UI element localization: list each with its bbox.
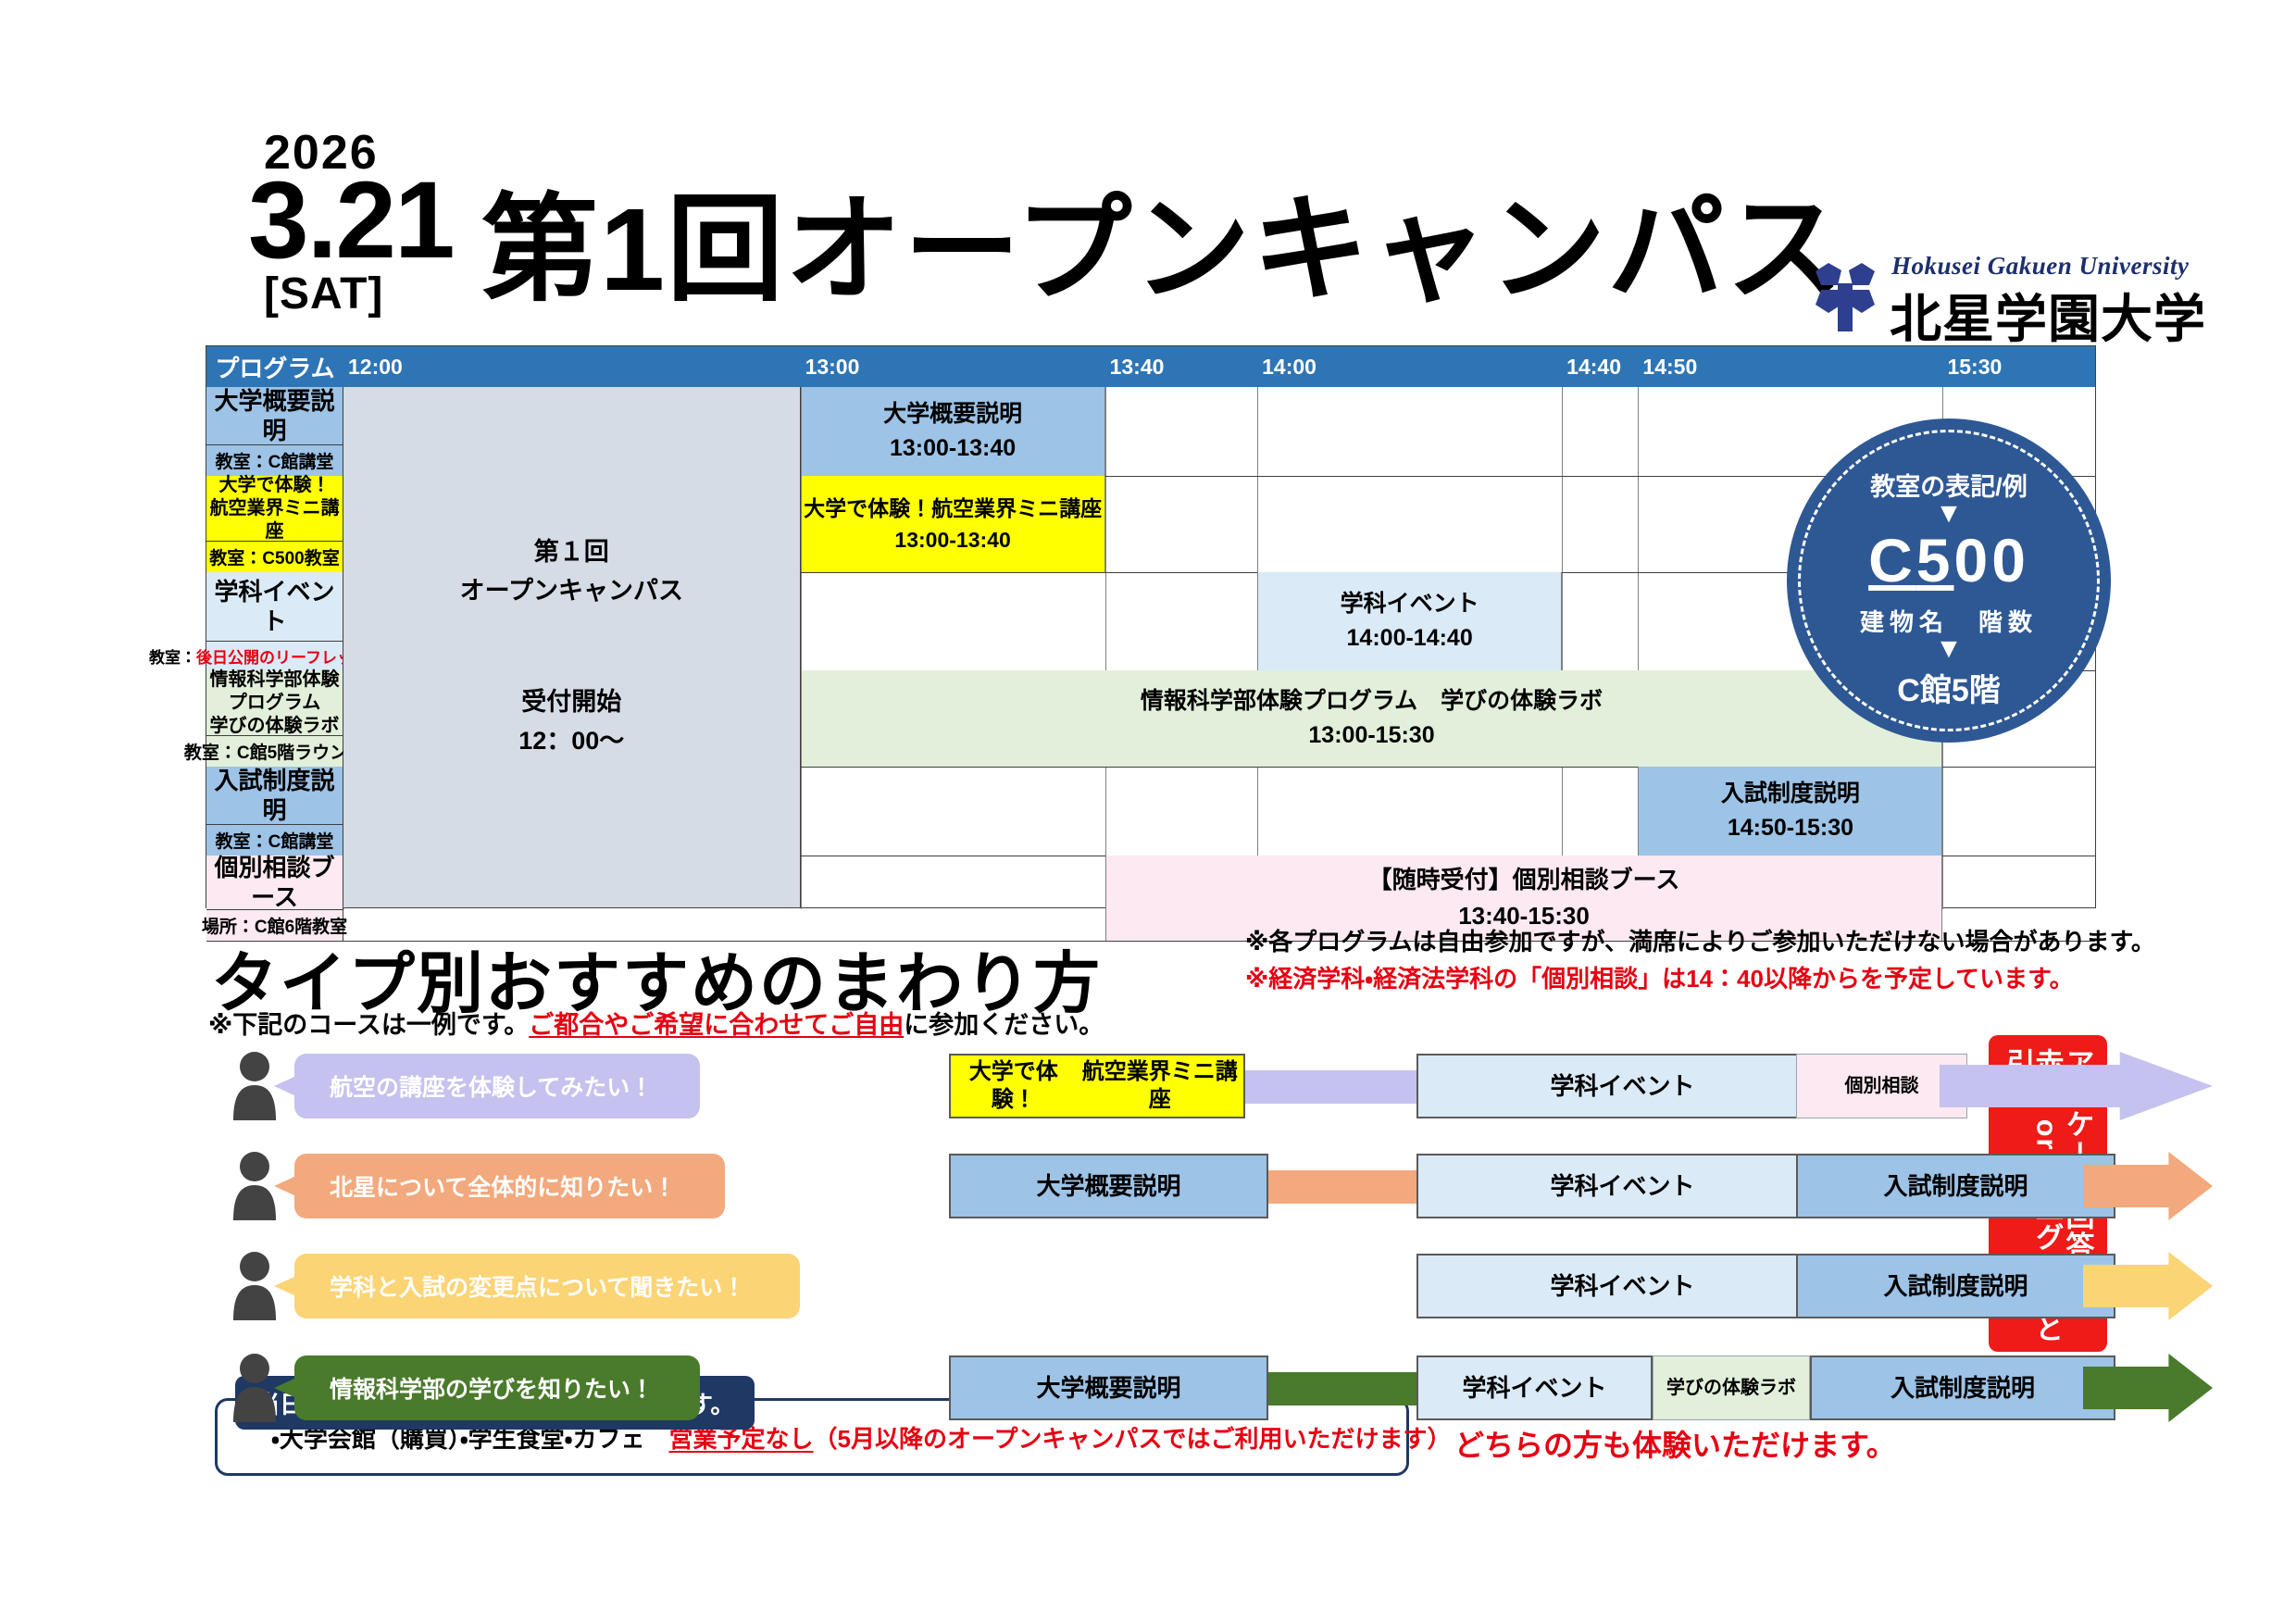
grid-line bbox=[1105, 387, 1106, 909]
program-label-text: 大学で体験！航空業界ミニ講座 bbox=[206, 474, 343, 543]
program-label-row: 大学で体験！航空業界ミニ講座 bbox=[206, 476, 343, 541]
reception-line4: 12：00〜 bbox=[518, 722, 624, 761]
lab-note-line2: どちらの方も体験いただけます。 bbox=[1430, 1424, 2162, 1467]
schedule-notes: ※各プログラムは自由参加ですが、満席によりご参加いただけない場合があります。 ※… bbox=[1245, 923, 2171, 998]
program-label-row: 学科イベント bbox=[206, 572, 343, 641]
event-date: 3.21 bbox=[248, 157, 454, 283]
schedule-bar[interactable]: 大学概要説明13:00-13:40 bbox=[801, 387, 1105, 476]
route-step-box[interactable]: 入試制度説明 bbox=[1810, 1355, 2115, 1420]
badge-code-building: C bbox=[1868, 526, 1916, 594]
event-day-of-week: [SAT] bbox=[264, 269, 383, 319]
program-room-row: 教室：C館講堂 bbox=[206, 444, 343, 476]
route-wish-bubble: 航空の講座を体験してみたい！ bbox=[294, 1054, 700, 1118]
schedule-bar-title: 学科イベント bbox=[1341, 587, 1479, 622]
schedule-bar[interactable]: 情報科学部体験プログラム 学びの体験ラボ13:00-15:30 bbox=[801, 670, 1943, 767]
program-label-row: 個別相談ブース bbox=[206, 856, 343, 909]
schedule-bar-time: 14:00-14:40 bbox=[1347, 621, 1473, 656]
grid-line bbox=[1562, 387, 1563, 909]
program-room-row: 教室：C館講堂 bbox=[206, 824, 343, 856]
room-label: 教室： bbox=[149, 644, 196, 668]
route-step-box[interactable]: 大学で体験！航空業界ミニ講座 bbox=[949, 1054, 1245, 1118]
reception-open: 受付開始12：00〜 bbox=[518, 683, 624, 761]
route-step-label: 学科イベント bbox=[1550, 1271, 1694, 1302]
program-label-text: 大学概要説明 bbox=[206, 386, 343, 446]
schedule-bar[interactable]: 学科イベント14:00-14:40 bbox=[1257, 572, 1562, 670]
route-step-box[interactable]: 学科イベント bbox=[1416, 1054, 1828, 1118]
route-wish-text: 情報科学部の学びを知りたい！ bbox=[330, 1371, 654, 1405]
route-step-label: 大学概要説明 bbox=[1036, 1373, 1180, 1404]
route-step-label: 学科イベント bbox=[1550, 1171, 1694, 1202]
program-label-text: 学科イベント bbox=[206, 577, 343, 637]
time-tick-1400: 14:00 bbox=[1257, 346, 1316, 387]
recommended-route-row: 北星について全体的に知りたい！大学概要説明学科イベント入試制度説明 bbox=[222, 1150, 2111, 1222]
route-connector bbox=[1245, 1070, 1416, 1104]
bubble-tail bbox=[274, 1176, 296, 1196]
reception-line2: オープンキャンパス bbox=[460, 572, 683, 611]
time-tick-1340: 13:40 bbox=[1105, 346, 1165, 387]
room-label: 教室：C500教室 bbox=[209, 544, 339, 569]
reception-line1: 第１回 bbox=[460, 533, 683, 572]
person-icon bbox=[230, 1252, 280, 1320]
route-step-label: 個別相談 bbox=[1845, 1075, 1919, 1098]
schedule-bar[interactable]: 入試制度説明14:50-15:30 bbox=[1638, 767, 1942, 856]
schedule-header-row: プログラム 12:0013:0013:4014:0014:4014:5015:3… bbox=[206, 346, 2095, 387]
bubble-tail bbox=[274, 1076, 296, 1096]
program-room-row: 教室：C500教室 bbox=[206, 541, 343, 572]
route-step-box[interactable]: 大学概要説明 bbox=[949, 1154, 1268, 1218]
route-wish-text: 北星について全体的に知りたい！ bbox=[330, 1169, 676, 1203]
program-room-row: 教室：C館5階ラウンジ bbox=[206, 735, 343, 767]
route-step-label: 大学で体験！ bbox=[951, 1058, 1076, 1114]
route-step-label: 学びの体験ラボ bbox=[1666, 1377, 1796, 1400]
badge-room-code: C500 bbox=[1787, 525, 2111, 595]
program-column-header: プログラム bbox=[206, 346, 343, 387]
program-label-row: 大学概要説明 bbox=[206, 387, 343, 444]
room-label: 教室：C館講堂 bbox=[216, 448, 334, 473]
route-step-box[interactable]: 学科イベント bbox=[1416, 1355, 1653, 1420]
schedule-bar-time: 14:50-15:30 bbox=[1728, 811, 1853, 846]
route-step-box[interactable]: 学科イベント bbox=[1416, 1154, 1828, 1218]
schedule-bar-time: 13:00-15:30 bbox=[1308, 718, 1434, 754]
note-economics-consult: ※経済学科・経済法学科の「個別相談」は14：40以降からを予定しています。 bbox=[1245, 960, 2171, 997]
badge-arrow-down-icon-2: ▼ bbox=[1787, 633, 2111, 665]
route-connector bbox=[1245, 1170, 1416, 1204]
time-tick-1200: 12:00 bbox=[343, 346, 403, 387]
program-room-row: 教室：後日公開のリーフレット参照 bbox=[206, 641, 343, 670]
schedule-bar-title: 【随時受付】個別相談ブース bbox=[1368, 862, 1680, 898]
schedule-bar-time: 13:00-13:40 bbox=[890, 431, 1016, 467]
route-step-box[interactable]: 大学概要説明 bbox=[949, 1355, 1268, 1420]
routes-sub-prefix: ※下記のコースは一例です。 bbox=[208, 1011, 529, 1039]
schedule-bar-title: 情報科学部体験プログラム 学びの体験ラボ bbox=[1141, 684, 1603, 719]
routes-section-subtitle: ※下記のコースは一例です。ご都合やご希望に合わせてご自由に参加ください。 bbox=[208, 1005, 1104, 1041]
recommended-route-row: 学科と入試の変更点について聞きたい！学科イベント入試制度説明 bbox=[222, 1250, 2111, 1322]
route-arrow-icon bbox=[2083, 1250, 2213, 1322]
reception-line3: 受付開始 bbox=[518, 683, 624, 722]
bubble-tail bbox=[274, 1378, 296, 1398]
route-step-label: 入試制度説明 bbox=[1890, 1373, 2035, 1404]
route-step-label: 航空業界ミニ講座 bbox=[1076, 1058, 1243, 1114]
bubble-tail bbox=[274, 1276, 296, 1296]
program-label-text: 個別相談ブース bbox=[206, 853, 343, 913]
schedule-bar-title: 入試制度説明 bbox=[1721, 777, 1860, 812]
route-wish-text: 航空の講座を体験してみたい！ bbox=[330, 1069, 653, 1103]
person-icon bbox=[230, 1152, 280, 1220]
schedule-bar[interactable]: 大学で体験！航空業界ミニ講座13:00-13:40 bbox=[801, 476, 1105, 572]
reception-block: 第１回オープンキャンパス受付開始12：00〜 bbox=[343, 387, 801, 907]
schedule-bar-title: 大学で体験！航空業界ミニ講座 bbox=[804, 493, 1102, 525]
note-free-participation: ※各プログラムは自由参加ですが、満席によりご参加いただけない場合があります。 bbox=[1245, 923, 2171, 960]
routes-sub-suffix: に参加ください。 bbox=[904, 1011, 1104, 1039]
route-step-label: 学科イベント bbox=[1462, 1373, 1606, 1404]
badge-code-floor: 5 bbox=[1916, 526, 1954, 594]
classroom-notation-badge: 教室の表記/例 ▼ C500 建物名 階数 ▼ C館5階 bbox=[1787, 418, 2111, 743]
recommended-route-row: 航空の講座を体験してみたい！大学で体験！航空業界ミニ講座学科イベント個別相談 bbox=[222, 1050, 2111, 1122]
route-step-label: 入試制度説明 bbox=[1883, 1171, 2028, 1202]
room-label: 教室：C館5階ラウンジ bbox=[184, 739, 365, 764]
program-label-row: 入試制度説明 bbox=[206, 767, 343, 824]
time-tick-1300: 13:00 bbox=[801, 346, 860, 387]
time-tick-1440: 14:40 bbox=[1562, 346, 1621, 387]
cafeteria-suffix: （5月以降のオープンキャンパスではご利用いただけます） bbox=[814, 1420, 1452, 1455]
program-label-text: 情報科学部体験プログラム学びの体験ラボ bbox=[206, 668, 343, 738]
poster-header: 2026 3.21 [SAT] 第1回オープンキャンパス Hokusei Gak… bbox=[0, 0, 2296, 343]
university-logo: Hokusei Gakuen University 北星学園大学 bbox=[1810, 252, 2171, 337]
page-title: 第1回オープンキャンパス bbox=[481, 156, 1845, 324]
badge-result: C館5階 bbox=[1787, 665, 2111, 710]
route-arrow-icon bbox=[2083, 1150, 2213, 1222]
person-icon bbox=[230, 1354, 280, 1422]
route-wish-bubble: 北星について全体的に知りたい！ bbox=[294, 1154, 725, 1218]
schedule-bar-title: 大学概要説明 bbox=[883, 397, 1022, 432]
route-step-box[interactable]: 学びの体験ラボ bbox=[1653, 1355, 1810, 1420]
route-arrow-icon bbox=[1940, 1050, 2213, 1122]
person-icon bbox=[230, 1052, 280, 1120]
recommended-route-row: 情報科学部の学びを知りたい！大学概要説明学科イベント学びの体験ラボ入試制度説明 bbox=[222, 1352, 2111, 1424]
logo-text-english: Hokusei Gakuen University bbox=[1891, 252, 2190, 281]
route-step-label: 入試制度説明 bbox=[1883, 1271, 2028, 1302]
route-arrow-icon bbox=[2083, 1352, 2213, 1424]
time-tick-1530: 15:30 bbox=[1942, 346, 2002, 387]
route-connector bbox=[1245, 1372, 1416, 1405]
room-label: 教室：C館講堂 bbox=[216, 828, 334, 853]
route-step-box[interactable]: 入試制度説明 bbox=[1796, 1154, 2115, 1218]
program-label-row: 情報科学部体験プログラム学びの体験ラボ bbox=[206, 670, 343, 735]
route-step-box[interactable]: 学科イベント bbox=[1416, 1254, 1828, 1318]
hokusei-flower-icon bbox=[1810, 259, 1880, 333]
route-step-label: 学科イベント bbox=[1550, 1071, 1694, 1102]
schedule-bar-time: 13:00-13:40 bbox=[894, 524, 1010, 556]
route-wish-bubble: 情報科学部の学びを知りたい！ bbox=[294, 1355, 700, 1420]
logo-text-japanese: 北星学園大学 bbox=[1890, 278, 2206, 353]
route-wish-text: 学科と入試の変更点について聞きたい！ bbox=[330, 1269, 745, 1303]
route-wish-bubble: 学科と入試の変更点について聞きたい！ bbox=[294, 1254, 800, 1318]
program-label-text: 入試制度説明 bbox=[206, 766, 343, 826]
time-tick-1450: 14:50 bbox=[1638, 346, 1697, 387]
reception-title: 第１回オープンキャンパス bbox=[460, 533, 683, 611]
route-step-box[interactable]: 入試制度説明 bbox=[1796, 1254, 2115, 1318]
routes-sub-highlight: ご都合やご希望に合わせてご自由 bbox=[529, 1011, 904, 1039]
route-step-label: 大学概要説明 bbox=[1036, 1171, 1180, 1202]
